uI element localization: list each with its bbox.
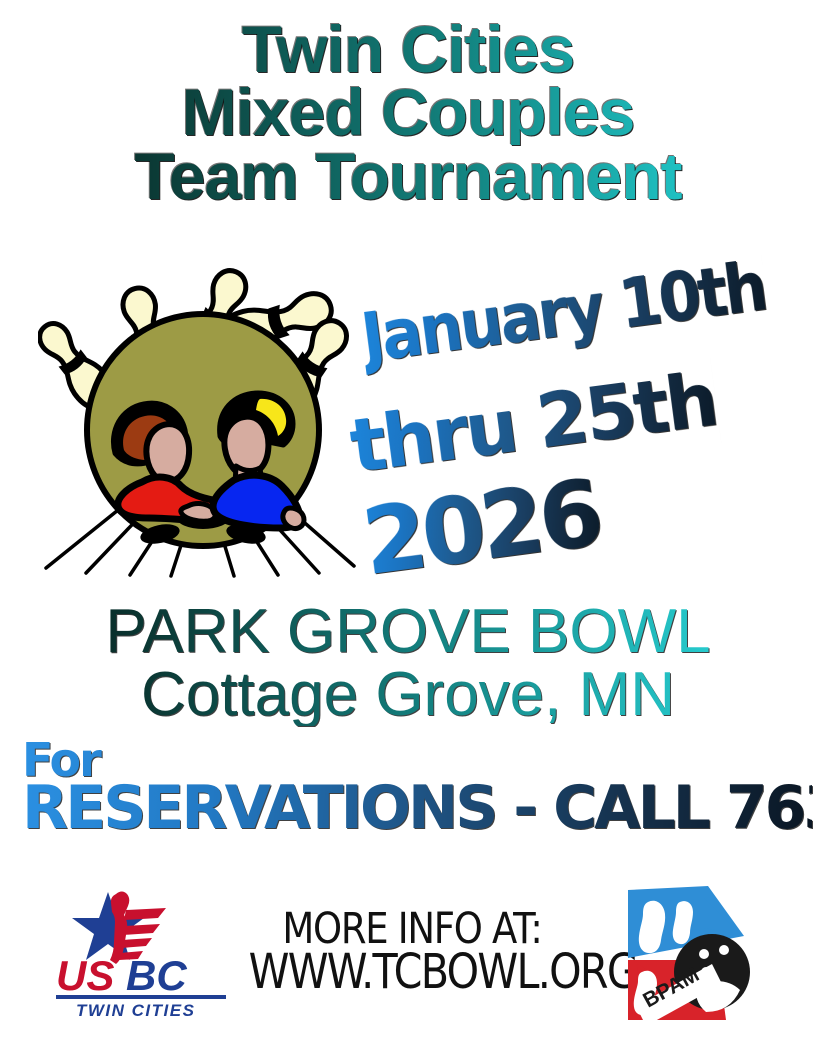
usbc-wordmark-us: US xyxy=(56,952,114,999)
venue-info: PARK GROVE BOWL Cottage Grove, MN xyxy=(0,600,816,726)
venue-city-state: Cottage Grove, MN xyxy=(0,663,816,726)
bpam-logo-svg: BPAM xyxy=(608,880,758,1025)
reservations-info: For RESERVATIONS - CALL 763-971-0800 xyxy=(22,742,812,837)
footer-row: US BC TWIN CITIES MORE INFO AT: WWW.TCBO… xyxy=(0,880,816,1040)
usbc-wordmark-bc: BC xyxy=(126,952,187,999)
title-line-3: Team Tournament xyxy=(0,145,816,208)
usbc-twin-cities-logo: US BC TWIN CITIES xyxy=(48,888,238,1018)
ball-art-svg xyxy=(38,268,368,593)
more-info-block: MORE INFO AT: WWW.TCBOWL.ORG xyxy=(222,910,602,995)
usbc-logo-svg: US BC TWIN CITIES xyxy=(48,888,238,1018)
title-line-1: Twin Cities xyxy=(0,18,816,81)
title-line-2: Mixed Couples xyxy=(0,81,816,144)
reservations-phone-line[interactable]: RESERVATIONS - CALL 763-971-0800 xyxy=(22,780,812,837)
more-info-url[interactable]: WWW.TCBOWL.ORG xyxy=(249,950,576,996)
usbc-underline xyxy=(56,995,226,999)
bpam-logo: BPAM xyxy=(608,880,758,1025)
tournament-dates: January 10th thru 25th 2026 xyxy=(352,292,792,562)
venue-name: PARK GROVE BOWL xyxy=(0,600,816,663)
bowling-ball-couple-illustration xyxy=(38,268,368,593)
date-line-2: thru 25th 2026 xyxy=(345,348,800,596)
poster-title: Twin Cities Mixed Couples Team Tournamen… xyxy=(0,18,816,208)
usbc-subtitle: TWIN CITIES xyxy=(76,1001,195,1018)
poster-canvas: Twin Cities Mixed Couples Team Tournamen… xyxy=(0,0,816,1056)
